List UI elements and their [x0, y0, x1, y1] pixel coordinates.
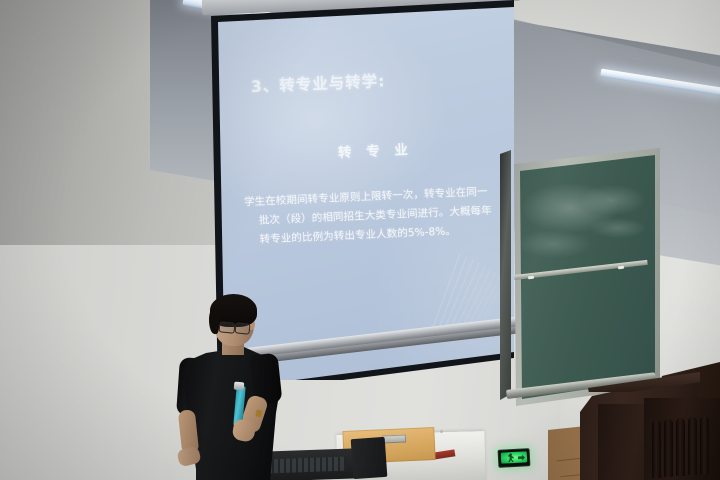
eyeglasses-icon [234, 322, 250, 335]
eyeglasses-icon [218, 321, 235, 334]
classroom-photo-scene: 3、转专业与转学: 转 专 业 学生在校期间转专业原则上限转一次，转专业在同一 … [0, 0, 720, 480]
slide-body-text: 学生在校期间转专业原则上限转一次，转专业在同一 批次（段）的相同招生大类专业间进… [244, 182, 498, 249]
slide-title: 3、转专业与转学: [250, 69, 385, 97]
microphone-head-icon [234, 382, 245, 391]
laptop-screen-lid [351, 437, 388, 479]
chair-slat [688, 417, 697, 475]
blackboard-clip [618, 266, 624, 270]
chair-slat [664, 419, 673, 477]
slide-heading: 转 专 业 [337, 138, 413, 161]
chair-slat [676, 418, 685, 476]
presenter-standing [178, 292, 296, 480]
chair-slat [652, 420, 661, 478]
desk-recessed-handle[interactable] [382, 434, 406, 443]
presenter-hair-side [209, 308, 219, 334]
blackboard-slide-track[interactable] [500, 150, 511, 400]
emergency-exit-sign [498, 448, 531, 468]
desk-screw [440, 430, 443, 433]
chair-slat [700, 416, 709, 474]
blackboard-clip [528, 276, 534, 280]
